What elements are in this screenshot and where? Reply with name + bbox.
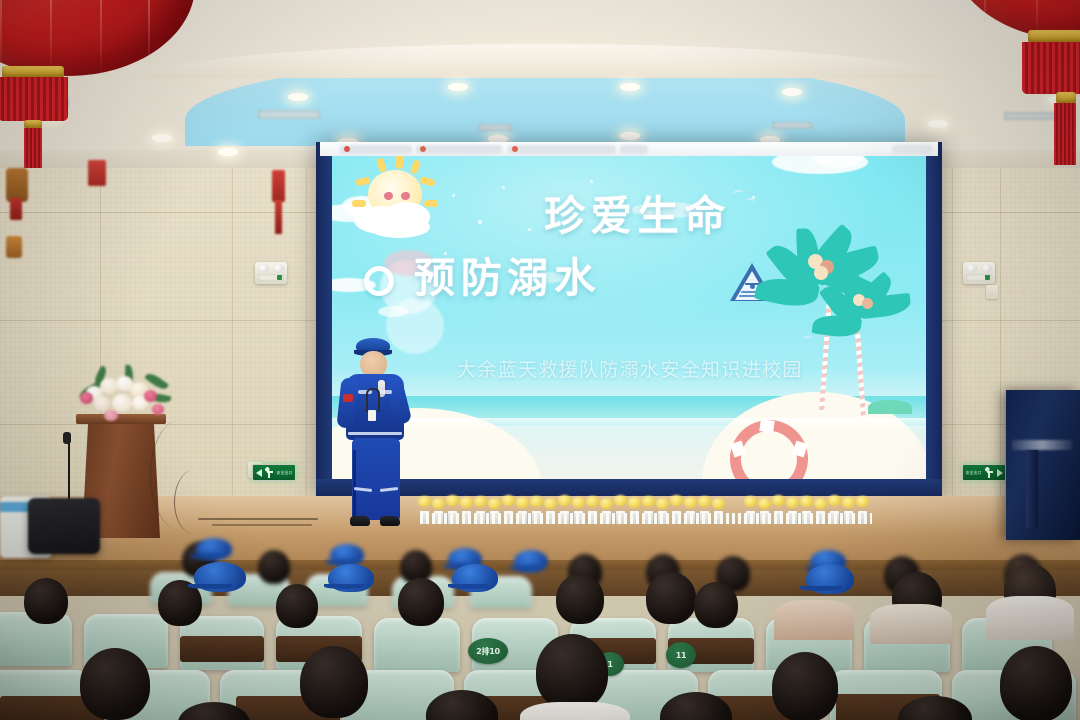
cap-brim: [190, 554, 222, 559]
wall-ornament-tassel: [10, 198, 22, 220]
sun-cloud: [368, 216, 430, 238]
emergency-light-indicator: [985, 275, 990, 280]
lifebuoy-icon: [730, 420, 808, 479]
cap-brim: [324, 584, 364, 589]
chrysanthemum: [572, 497, 585, 508]
shoulder-patch-red: [343, 394, 353, 402]
seat-placard-label: 1: [607, 660, 612, 669]
chrysanthemum: [744, 496, 757, 507]
cap-brim: [188, 584, 232, 589]
wall-socket-plate: [986, 285, 998, 299]
chrysanthemum: [842, 497, 855, 508]
audience-shoulders: [870, 604, 952, 644]
seat-placard-label: 2排10: [476, 646, 500, 657]
chrysanthemum: [828, 495, 841, 506]
seat-placard: 2排10: [468, 638, 508, 664]
tab-favicon: [344, 146, 350, 152]
chrysanthemum: [670, 495, 683, 506]
bouquet-flower-pink: [144, 390, 157, 402]
seat-placard-label: 11: [676, 651, 687, 660]
palm-tree-short: [812, 234, 922, 424]
audience-head: [24, 578, 68, 624]
browser-tab-bar[interactable]: [320, 142, 938, 156]
audience-head: [258, 550, 290, 584]
running-person-icon: [264, 467, 275, 478]
wall-ornament: [6, 168, 28, 202]
audience-head: [276, 584, 318, 628]
browser-tab[interactable]: [416, 145, 502, 154]
audience-head: [1000, 646, 1072, 720]
chrysanthemum: [684, 497, 697, 508]
audience-head: [536, 634, 608, 710]
lantern-rib: [50, 0, 52, 76]
ceiling-vent: [772, 122, 812, 129]
running-person-icon: [984, 467, 995, 478]
emergency-lamp: [981, 264, 992, 273]
podium-bouquet: [78, 368, 170, 426]
chrysanthemum: [460, 497, 473, 508]
emergency-light-left: [255, 262, 287, 284]
sun-ray: [410, 159, 422, 175]
audience-shoulders: [774, 600, 854, 640]
exit-sign-label: 安全出口: [277, 470, 293, 475]
bouquet-flower: [100, 378, 118, 394]
sparkle: [452, 194, 455, 197]
mic-head-icon: [63, 432, 71, 444]
piano-leg: [1026, 450, 1038, 528]
reflective-stripe: [348, 432, 402, 435]
arrow-right-icon: [997, 469, 1003, 477]
browser-tab[interactable]: [340, 145, 412, 154]
cap-brim: [510, 566, 540, 571]
tab-favicon: [420, 146, 426, 152]
wall-ornament: [6, 236, 22, 258]
audience-shoulders: [986, 596, 1074, 640]
browser-tab[interactable]: [508, 145, 616, 154]
lantern-fringe: [0, 77, 68, 121]
chrysanthemum: [856, 496, 869, 507]
chrysanthemum: [814, 498, 827, 509]
beach-shrub: [868, 400, 912, 414]
chrysanthemum: [772, 495, 785, 506]
lantern-rib: [148, 0, 150, 76]
sparkle: [502, 186, 505, 189]
chrysanthemum: [800, 496, 813, 507]
ceiling-vent: [478, 124, 512, 131]
piano: [1006, 390, 1080, 540]
chrysanthemum: [786, 497, 799, 508]
slide-subtitle: 大余蓝天救援队防溺水安全知识进校园: [457, 358, 803, 382]
chrysanthemum: [628, 497, 641, 508]
wall-seam: [952, 168, 953, 528]
chrysanthemum: [488, 498, 501, 509]
bouquet-flower: [112, 394, 132, 412]
downlight: [288, 93, 308, 101]
audience-head: [646, 572, 696, 624]
downlight: [620, 83, 640, 91]
chrysanthemum: [516, 497, 529, 508]
chrysanthemum: [544, 498, 557, 509]
wall-banner-tassel: [275, 200, 282, 234]
cap-brim: [800, 586, 842, 591]
coconut: [862, 298, 873, 309]
wall-banner-red: [88, 160, 106, 186]
emergency-light-right: [963, 262, 995, 284]
cap-brim: [448, 584, 488, 589]
downlight: [928, 120, 948, 128]
audience-seating: 2排10 11: [0, 520, 1080, 720]
seat-back-panel: [180, 636, 264, 662]
downlight: [620, 132, 640, 140]
chrysanthemum: [642, 496, 655, 507]
lantern-rib: [0, 0, 2, 76]
lantern-right: [950, 0, 1080, 160]
bouquet-flower-pink: [104, 410, 118, 421]
lantern-left: [0, 0, 220, 164]
lantern-rib: [100, 0, 102, 76]
chrysanthemum: [712, 498, 725, 509]
seat[interactable]: [374, 618, 460, 672]
chrysanthemum: [502, 495, 515, 506]
downlight: [448, 83, 468, 91]
sparkle: [478, 220, 482, 224]
audience-head: [300, 646, 368, 718]
sun-icon: [354, 162, 444, 248]
slide-title-line1: 珍爱生命: [544, 194, 731, 239]
sun-ray: [424, 200, 438, 207]
presenter-leg-split: [353, 450, 356, 520]
exit-sign-right: 安全出口: [962, 464, 1006, 481]
ceiling-rim: [150, 44, 940, 78]
lanyard: [366, 388, 380, 412]
audience-head: [80, 648, 150, 720]
sun-ray: [355, 177, 370, 187]
sun-ray: [396, 156, 403, 169]
auditorium-photo: 安全出口 安全出口: [0, 0, 1080, 720]
sparkle: [590, 180, 593, 183]
chrysanthemum: [586, 496, 599, 507]
chrysanthemum: [432, 498, 445, 509]
chrysanthemum: [558, 495, 571, 506]
sparkle: [528, 228, 531, 231]
emergency-light-indicator: [277, 275, 282, 280]
lantern-tassel: [1054, 103, 1076, 165]
id-badge: [368, 410, 376, 421]
decor-ring: [364, 266, 394, 296]
downlight: [218, 148, 238, 156]
arrow-left-icon: [256, 469, 262, 477]
audience-shoulders: [520, 702, 630, 720]
bouquet-flower: [94, 396, 110, 411]
sun-ray: [352, 200, 366, 207]
presenter-legs: [352, 438, 400, 520]
chrysanthemum: [530, 496, 543, 507]
chest-patch: [379, 390, 392, 394]
audience-head: [556, 574, 604, 624]
bouquet-flower-pink: [80, 392, 93, 404]
seat-placard: 11: [666, 642, 696, 668]
emergency-lamp: [966, 264, 977, 273]
audience-head: [694, 582, 738, 628]
ceiling-vent: [258, 110, 320, 119]
audience-head: [398, 578, 444, 626]
wall-seam: [232, 168, 233, 528]
lantern-rib: [984, 0, 986, 40]
lifebuoy-segment: [759, 419, 775, 433]
lantern-body: [0, 0, 195, 76]
chrysanthemum: [600, 498, 613, 509]
chrysanthemum: [614, 495, 627, 506]
emergency-lamp: [258, 264, 269, 273]
downlight: [782, 88, 802, 96]
chrysanthemum: [758, 498, 771, 509]
browser-tab[interactable]: [620, 145, 648, 154]
window-controls[interactable]: [892, 145, 932, 154]
exit-sign-label: 安全出口: [966, 470, 982, 475]
slide-title-line2: 预防溺水: [414, 256, 601, 301]
piano-reflection: [1012, 440, 1072, 450]
exit-sign-left: 安全出口: [252, 464, 296, 481]
emergency-lamp: [273, 264, 284, 273]
lantern-fringe: [1022, 42, 1080, 94]
chrysanthemum: [446, 495, 459, 506]
bouquet-flower-pink: [152, 404, 164, 415]
chrysanthemum: [474, 496, 487, 507]
audience-head: [772, 652, 838, 720]
chrysanthemum: [656, 498, 669, 509]
sun-ray: [419, 176, 435, 187]
presenter: [330, 338, 422, 538]
chrysanthemum: [698, 496, 711, 507]
screen-right-border: [926, 142, 942, 497]
wall-banner-red: [272, 170, 285, 202]
wall-seam: [306, 168, 307, 528]
tab-favicon: [512, 146, 518, 152]
